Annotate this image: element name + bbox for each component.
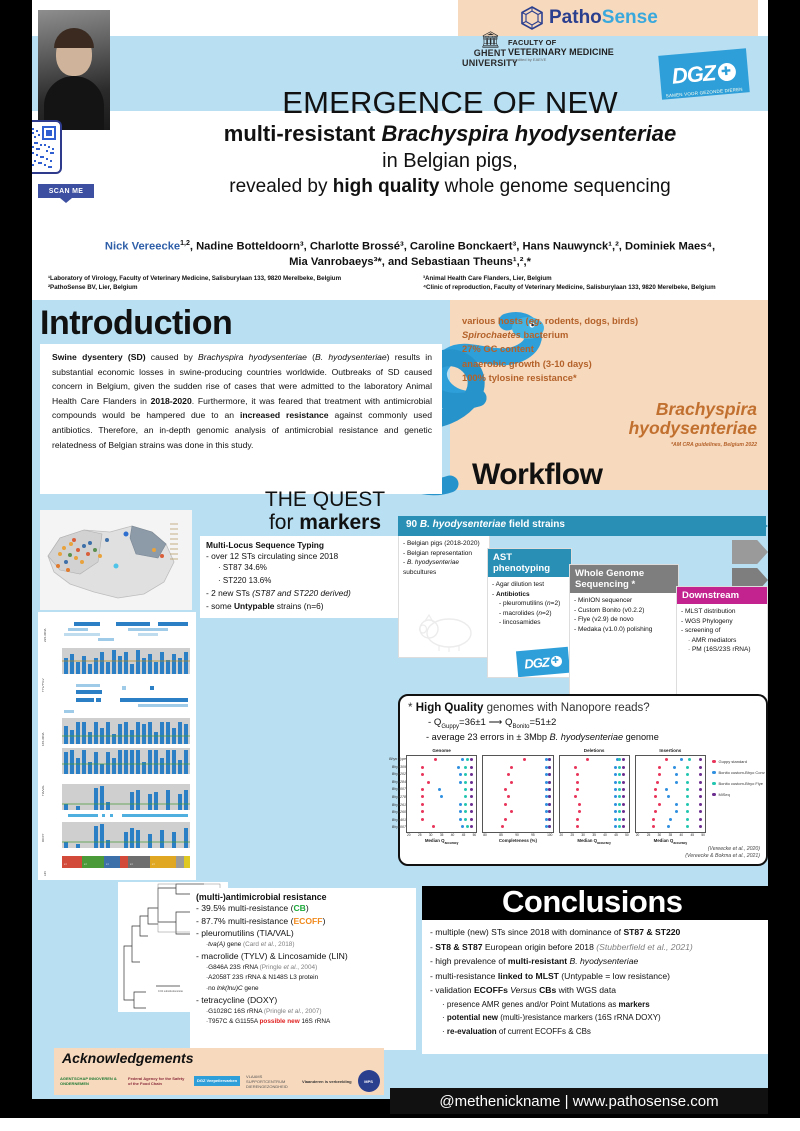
acknowledgement-logos: AGENTSCHAP INNOVEREN & ONDERNEMEN Federa… [60, 1068, 380, 1094]
hq-quality-line: - QGuppy=36±1 ⟶ QBonito=51±2 [428, 717, 758, 730]
chart-data-point [548, 773, 551, 776]
mlst-item-1: - over 12 STs circulating since 2018 [206, 550, 409, 562]
hq-arrow-icon: ⟶ [489, 717, 503, 728]
poster-header: SCAN ME PathoSense 🏛 GHENT UNIVERSITY FA [0, 0, 800, 300]
coauthors: , Nadine Botteldoorn³, Charlotte Brossé³… [190, 241, 715, 253]
chart-data-point [699, 758, 702, 761]
dgz-cross-icon-small [550, 655, 562, 667]
chart-data-point [576, 773, 579, 776]
chart-data-point [699, 803, 702, 806]
chart-data-point [614, 818, 617, 821]
amr-list: - 39.5% multi-resistance (CB) - 87.7% mu… [196, 902, 410, 1027]
mlst-sub-1: · ST87 34.6% [206, 562, 409, 574]
chart-data-point [699, 773, 702, 776]
chart-data-point [586, 758, 589, 761]
amr-item-pleuromutilins: - pleuromutilins (TIA/VAL) [196, 927, 410, 940]
chart-data-point [464, 803, 467, 806]
svg-text:LIN: LIN [43, 871, 47, 876]
affiliation-4: ⁴Clinic of reproduction, Faculty of Vete… [423, 283, 788, 292]
chart-data-point [576, 818, 579, 821]
introduction-box: Swine dysentery (SD) caused by Brachyspi… [40, 344, 442, 494]
svg-text:DOXY: DOXY [41, 833, 45, 842]
wf4-sub-1: · AMR mediators [681, 636, 763, 646]
faculty-vet-medicine-logo: FACULTY OF VETERINARY MEDICINE accredite… [508, 38, 614, 62]
chart-y-tick: Bhyo260 [373, 809, 406, 817]
wf2-sub-3: - lincosamides [492, 618, 567, 628]
chart-data-point [464, 810, 467, 813]
lead-author-sup: 1,2 [180, 240, 190, 247]
faculty-line3: accredited by EAEVE [508, 57, 614, 62]
chart-data-point [578, 803, 581, 806]
wf2-item-1: - Agar dilution test [492, 580, 567, 590]
chart-data-point [699, 766, 702, 769]
chart-data-point [614, 781, 617, 784]
chart-panel-title: Insertions [635, 748, 706, 755]
chart-panel-title: Genome [406, 748, 477, 755]
amr-sub-g1028c: ·G1028C 16S rRNA (Pringle et al., 2007) [196, 1007, 410, 1017]
chart-data-point [658, 773, 661, 776]
chart-data-point [675, 773, 678, 776]
affiliations-right: ³Animal Health Care Flanders, Lier, Belg… [423, 274, 788, 292]
chart-data-point [622, 758, 625, 761]
faculty-line2: VETERINARY MEDICINE [508, 47, 614, 57]
chart-data-point [680, 758, 683, 761]
chart-data-point [622, 773, 625, 776]
species-genus: Brachyspira [462, 400, 757, 419]
fact-item-4: anaerobic growth (3-10 days) [462, 357, 762, 371]
chart-data-point [459, 818, 462, 821]
frame-right [768, 0, 800, 1131]
fact-item-5: 100% tylosine resistance* [462, 371, 762, 385]
chart-data-point [686, 825, 689, 828]
workflow-box-strains: - Belgian pigs (2018-2020) - Belgian rep… [398, 536, 490, 658]
workflow-chevron-2 [732, 540, 768, 564]
chart-data-point [614, 773, 617, 776]
chart-data-point [574, 766, 577, 769]
chart-data-point [656, 781, 659, 784]
chart-data-point [461, 825, 464, 828]
wf3-item-2: - Custom Bonito (v0.2.2) [574, 606, 674, 616]
chart-plot-area [559, 755, 630, 833]
chart-data-point [576, 825, 579, 828]
wf4-item-1: - MLST distribution [681, 607, 763, 617]
ack-logo-mps: MPS [358, 1070, 380, 1092]
mlst-box: Multi-Locus Sequence Typing - over 12 ST… [200, 536, 415, 618]
dgz-cross-icon [717, 62, 737, 82]
conclusions-heading: Conclusions [502, 884, 683, 920]
chart-data-point [618, 766, 621, 769]
title-line-3: in Belgian pigs, [120, 148, 780, 174]
chart-data-point [618, 795, 621, 798]
genomic-tracks-heatmap: 23S rRNA TYL/TYLV 16S rRNA TIA/VAL DOXY … [38, 612, 196, 880]
chart-data-point [618, 773, 621, 776]
amr-item-tetracycline: - tetracycline (DOXY) [196, 994, 410, 1007]
quest-markers: markers [299, 511, 381, 534]
chart-data-point [470, 795, 473, 798]
chart-data-point [510, 810, 513, 813]
chart-data-point [507, 773, 510, 776]
chart-data-point [669, 818, 672, 821]
title-line-2-species: Brachyspira hyodysenteriae [382, 121, 677, 146]
chart-data-point [548, 818, 551, 821]
chart-data-point [548, 781, 551, 784]
chart-data-point [699, 825, 702, 828]
chart-y-tick: Bhyo401 [373, 817, 406, 825]
introduction-body: Swine dysentery (SD) caused by Brachyspi… [52, 350, 432, 452]
heatmap-svg: 23S rRNA TYL/TYLV 16S rRNA TIA/VAL DOXY … [38, 612, 196, 880]
conclusion-3: - high prevalence of multi-resistant B. … [430, 954, 760, 969]
chart-data-point [504, 803, 507, 806]
wf4-item-3: - screening of [681, 626, 763, 636]
footer-contact-bar[interactable]: @methenickname | www.pathosense.com [390, 1088, 768, 1114]
wf3-item-3: - Flye (v2.9) de novo [574, 615, 674, 625]
workflow-box-1-list: - Belgian pigs (2018-2020) - Belgian rep… [399, 536, 489, 580]
quest-for: for [269, 511, 299, 534]
pathosense-logo: PathoSense [520, 6, 658, 30]
chart-data-point [470, 810, 473, 813]
poster-body: Introduction Swine dysentery (SD) caused… [32, 300, 768, 1095]
wf4-item-2: - WGS Phylogeny [681, 617, 763, 627]
conclusion-sub-3: · re-evaluation of current ECOFFs & CBs [430, 1025, 760, 1038]
chart-data-point [510, 781, 513, 784]
pathosense-wordmark: PathoSense [549, 7, 658, 29]
chart-data-point [686, 781, 689, 784]
chart-data-point [548, 758, 551, 761]
conclusion-sub-2: · potential new (multi-)resistance marke… [430, 1011, 760, 1024]
chart-data-point [622, 781, 625, 784]
legend-label: Bonito custom-Bhyo Conv [719, 770, 765, 775]
chart-data-point [432, 825, 435, 828]
chart-data-point [464, 818, 467, 821]
conclusion-4: - multi-resistance linked to MLST (Untyp… [430, 969, 760, 984]
amr-sub-t957c: ·T957C & G1155A possible new 16S rRNA [196, 1017, 410, 1027]
chart-data-point [574, 795, 577, 798]
ack-logo-favv: Federal Agency for the Safety of the Foo… [128, 1076, 188, 1086]
svg-text:0.02 substitutions/site: 0.02 substitutions/site [158, 989, 184, 993]
workflow-box-2-list: - Agar dilution test - Antibiotics - ple… [488, 577, 571, 631]
mlst-item-2: - 2 new STs (ST87 and ST220 derived) [206, 587, 409, 599]
frame-bottom-white [0, 1118, 800, 1131]
legend-swatch [712, 793, 716, 797]
title-line-4-b: whole genome sequencing [439, 176, 670, 197]
chart-data-point [470, 773, 473, 776]
workflow-box-3-list: - MinION sequencer - Custom Bonito (v0.2… [570, 593, 678, 637]
conclusion-5: - validation ECOFFs Versus CBs with WGS … [430, 983, 760, 998]
wf3-item-4: - Medaka (v1.0.0) polishing [574, 625, 674, 635]
chart-y-tick: Bhyo278 [373, 794, 406, 802]
ack-logo-vlaio: AGENTSCHAP INNOVEREN & ONDERNEMEN [60, 1076, 122, 1086]
facts-list: various hosts (eg. rodents, dogs, birds)… [462, 314, 762, 385]
amr-heading: (multi-)antimicrobial resistance [196, 892, 410, 902]
chart-data-point [548, 810, 551, 813]
chart-data-point [466, 758, 469, 761]
affiliation-3: ³Animal Health Care Flanders, Lier, Belg… [423, 274, 788, 283]
workflow-banner: 90 B. hyodysenteriae field strains [398, 516, 766, 536]
chart-data-point [421, 818, 424, 821]
chart-data-point [459, 803, 462, 806]
conclusion-2: - ST8 & ST87 European origin before 2018… [430, 940, 760, 955]
chart-data-point [421, 795, 424, 798]
affiliation-1: ¹Laboratory of Virology, Faculty of Vete… [48, 274, 413, 283]
workflow-heading: Workflow [472, 458, 602, 492]
hq-q-val1: =36±1 [459, 717, 486, 728]
chart-panel-4: Insertions20253035404550Median Qaccuracy [635, 748, 706, 856]
conclusions-list: - multiple (new) STs since 2018 with dom… [430, 925, 760, 1038]
chart-y-tick: Bhyo007 [373, 786, 406, 794]
amr-sub-lnkc: ·no lnk(lnu)C gene [196, 984, 410, 994]
wf4-title: Downstream [677, 587, 767, 604]
acknowledgements-box: Acknowledgements AGENTSCHAP INNOVEREN & … [54, 1048, 384, 1096]
chart-data-point [459, 773, 462, 776]
wf1-item-2: - Belgian representation [403, 549, 485, 559]
chart-data-point [421, 773, 424, 776]
chart-x-label: Median Qaccuracy [406, 838, 477, 845]
hq-references: (Vereecke et al., 2020) (Vereecke & Bokm… [685, 846, 760, 860]
svg-text:TYL/TYLV: TYL/TYLV [41, 678, 45, 692]
workflow-chevron-1 [752, 516, 768, 536]
chart-data-point [652, 825, 655, 828]
high-quality-box: * High Quality genomes with Nanopore rea… [398, 694, 768, 866]
wf2-title: AST phenotyping [488, 549, 571, 577]
affiliations: ¹Laboratory of Virology, Faculty of Vete… [48, 274, 788, 292]
hq-q-prefix: - Q [428, 717, 441, 728]
fact-item-2: Spirochaetes bacterium [462, 328, 762, 342]
chart-data-point [438, 788, 441, 791]
chart-data-point [466, 825, 469, 828]
chart-panel-title [482, 748, 553, 755]
chart-data-point [622, 825, 625, 828]
mlst-sub-2: · ST220 13.6% [206, 575, 409, 587]
chart-data-point [618, 803, 621, 806]
chart-x-label: Completeness (%) [482, 838, 553, 843]
dgz-wordmark-small: DGZ [524, 654, 550, 671]
chart-plot-area [635, 755, 706, 833]
chart-x-ticks: 20253035404550 [559, 833, 630, 837]
chart-data-point [461, 758, 464, 761]
affiliation-2: ²PathoSense BV, Lier, Belgium [48, 283, 413, 292]
chart-data-point [470, 825, 473, 828]
mlst-list: - over 12 STs circulating since 2018 · S… [206, 550, 409, 612]
ack-logo-supportcentrum: VLAAMS SUPPORTCENTRUM DIERENGEZONDHEID [246, 1074, 296, 1089]
hq-average-line: - average 23 errors in ± 3Mbp B. hyodyse… [426, 732, 758, 742]
authors-line-2: Mia Vanrobaeys³*, and Sebastiaan Theuns¹… [60, 255, 760, 270]
chart-data-point [614, 810, 617, 813]
legend-label: MiSeq [719, 792, 730, 797]
author-list: Nick Vereecke1,2, Nadine Botteldoorn³, C… [60, 236, 760, 270]
wf2-sub-2: - macrolides (n=2) [492, 609, 567, 619]
hq-q-val2: =51±2 [529, 717, 556, 728]
chart-data-point [618, 818, 621, 821]
chart-data-point [421, 803, 424, 806]
chart-data-point [548, 803, 551, 806]
scan-me-badge[interactable]: SCAN ME [38, 184, 94, 198]
frame-left [0, 0, 32, 1131]
chart-x-ticks: 20253035404550 [635, 833, 706, 837]
chart-data-point [658, 803, 661, 806]
chart-data-point [576, 788, 579, 791]
svg-text:16S rRNA: 16S rRNA [41, 732, 45, 746]
chart-data-point [510, 766, 513, 769]
hq-q-sub2: Bonito [512, 724, 529, 730]
pig-watermark-icon [417, 611, 477, 653]
chart-data-point [686, 788, 689, 791]
chart-data-point [459, 810, 462, 813]
chart-data-point [618, 781, 621, 784]
chart-y-tick: Bhyo261 [373, 802, 406, 810]
mlst-heading: Multi-Locus Sequence Typing [206, 540, 409, 550]
chart-data-point [504, 788, 507, 791]
amr-sub-a2058t: ·A2058T 23S rRNA & N148S L3 protein [196, 973, 410, 983]
ack-logo-vlaanderen: Vlaanderen is verbeelding [302, 1079, 352, 1084]
hq-title: * High Quality genomes with Nanopore rea… [408, 702, 758, 714]
chart-data-point [421, 788, 424, 791]
faculty-line1: FACULTY OF [508, 38, 614, 47]
chart-data-point [464, 766, 467, 769]
acknowledgements-heading: Acknowledgements [62, 1050, 193, 1066]
legend-swatch [712, 771, 716, 775]
chart-y-tick: Bhyo202 [373, 771, 406, 779]
chart-data-point [614, 825, 617, 828]
chart-y-tick: Bhyo Type [373, 756, 406, 764]
chart-data-point [652, 818, 655, 821]
quest-line-1: THE QUEST [210, 488, 440, 511]
chart-data-point [548, 795, 551, 798]
chart-data-point [667, 795, 670, 798]
affiliations-left: ¹Laboratory of Virology, Faculty of Vete… [48, 274, 413, 292]
facts-footnote: *AM CRA guidelines, Belgium 2022 [462, 442, 757, 448]
svg-text:23S rRNA: 23S rRNA [43, 628, 47, 642]
chart-data-point [699, 810, 702, 813]
pathosense-hexagon-icon [520, 6, 544, 30]
lead-author: Nick Vereecke [105, 241, 180, 253]
workflow-box-wgs: Whole Genome Sequencing * - MinION seque… [569, 564, 679, 698]
title-line-2: multi-resistant Brachyspira hyodysenteri… [120, 120, 780, 148]
chart-data-point [470, 766, 473, 769]
chart-y-tick: Bhyo309 [373, 764, 406, 772]
wf2-item-2: - Antibiotics [492, 590, 567, 600]
chart-data-point [421, 766, 424, 769]
poster-title: EMERGENCE OF NEW multi-resistant Brachys… [120, 86, 780, 200]
amr-item-ecoff: - 87.7% multi-resistance (ECOFF) [196, 915, 410, 928]
conclusion-1: - multiple (new) STs since 2018 with dom… [430, 925, 760, 940]
chart-data-point [618, 810, 621, 813]
legend-item: Bonito custom-Bhyo Flye [712, 778, 772, 789]
author-photo [38, 10, 110, 130]
chart-data-point [686, 766, 689, 769]
chart-data-point [665, 788, 668, 791]
wf1-item-3: - B. hyodysenteriae subcultures [403, 558, 485, 577]
chart-data-point [421, 810, 424, 813]
legend-item: Guppy standard [712, 756, 772, 767]
legend-swatch [712, 760, 716, 764]
legend-label: Bonito custom-Bhyo Flye [719, 781, 763, 786]
chart-data-point [699, 795, 702, 798]
chart-data-point [614, 803, 617, 806]
chart-data-point [618, 788, 621, 791]
chart-data-point [548, 825, 551, 828]
chart-data-point [464, 773, 467, 776]
title-line-2-plain: multi-resistant [224, 121, 382, 146]
chart-data-point [675, 803, 678, 806]
quality-charts: GenomeBhyo TypeBhyo309Bhyo202Bhyo284Bhyo… [406, 748, 706, 856]
map-svg [40, 510, 192, 610]
chart-data-point [578, 810, 581, 813]
chart-data-point [548, 766, 551, 769]
title-line-4-a: revealed by [229, 176, 333, 197]
amr-results-box: (multi-)antimicrobial resistance - 39.5%… [190, 888, 416, 1050]
workflow-box-4-list: - MLST distribution - WGS Phylogeny - sc… [677, 604, 767, 658]
chart-y-tick: Bhyo007 [373, 824, 406, 832]
chart-data-point [675, 781, 678, 784]
svg-text:TIA/VAL: TIA/VAL [41, 785, 45, 796]
chart-data-point [504, 818, 507, 821]
workflow-box-ast: AST phenotyping - Agar dilution test - A… [487, 548, 572, 678]
hq-title-bold: High Quality [416, 702, 484, 714]
conclusions-box: - multiple (new) STs since 2018 with dom… [422, 920, 768, 1054]
chart-data-point [688, 758, 691, 761]
chart-data-point [548, 788, 551, 791]
conclusion-sub-1: · presence AMR genes and/or Point Mutati… [430, 998, 760, 1011]
amr-item-macrolide: - macrolide (TYLV) & Lincosamide (LIN) [196, 950, 410, 963]
chart-data-point [654, 795, 657, 798]
chart-data-point [673, 766, 676, 769]
chart-data-point [686, 795, 689, 798]
chart-data-point [614, 766, 617, 769]
title-line-4: revealed by high quality whole genome se… [120, 174, 780, 200]
wf2-sub-1: - pleuromutilins (n=2) [492, 599, 567, 609]
chart-data-point [622, 803, 625, 806]
title-line-1: EMERGENCE OF NEW [120, 86, 780, 120]
chart-data-point [470, 758, 473, 761]
chart-data-point [507, 795, 510, 798]
chart-data-point [699, 788, 702, 791]
chart-data-point [658, 766, 661, 769]
chart-data-point [614, 795, 617, 798]
chart-x-ticks: 80859095100 [482, 833, 553, 837]
amr-sub-tva: ·tva(A) gene (Card et al., 2018) [196, 940, 410, 950]
chart-data-point [699, 781, 702, 784]
wf3-item-1: - MinION sequencer [574, 596, 674, 606]
chart-data-point [470, 781, 473, 784]
chart-panel-3: Deletions20253035404550Median Qaccuracy [559, 748, 630, 856]
chart-x-label: Median Qaccuracy [635, 838, 706, 845]
hq-q-sub1: Guppy [441, 724, 459, 730]
belgium-strain-map [40, 510, 192, 610]
chart-data-point [622, 788, 625, 791]
species-epithet: hyodysenteriae [462, 419, 757, 438]
chart-legend: Guppy standardBonito custom-Bhyo ConvBon… [712, 756, 772, 800]
chart-x-ticks: 20253035404550 [406, 833, 477, 837]
wf4-sub-2: · PM (16S/23S rRNA) [681, 645, 763, 655]
chart-data-point [686, 803, 689, 806]
legend-item: Bonito custom-Bhyo Conv [712, 767, 772, 778]
hq-ref-1: (Vereecke et al., 2020) [685, 846, 760, 853]
chart-data-point [457, 766, 460, 769]
chart-data-point [614, 788, 617, 791]
fact-item-1: various hosts (eg. rodents, dogs, birds) [462, 314, 762, 328]
chart-data-point [618, 825, 621, 828]
ack-logo-dgz: DGZ Veepeilervarken [194, 1076, 240, 1086]
legend-item: MiSeq [712, 789, 772, 800]
chart-data-point [622, 795, 625, 798]
chart-data-point [523, 758, 526, 761]
chart-data-point [459, 781, 462, 784]
chart-data-point [622, 818, 625, 821]
chart-data-point [686, 818, 689, 821]
hq-title-rest: genomes with Nanopore reads? [483, 702, 649, 714]
chart-y-labels: Bhyo TypeBhyo309Bhyo202Bhyo284Bhyo007Bhy… [373, 756, 406, 832]
wf3-title: Whole Genome Sequencing * [570, 565, 678, 593]
